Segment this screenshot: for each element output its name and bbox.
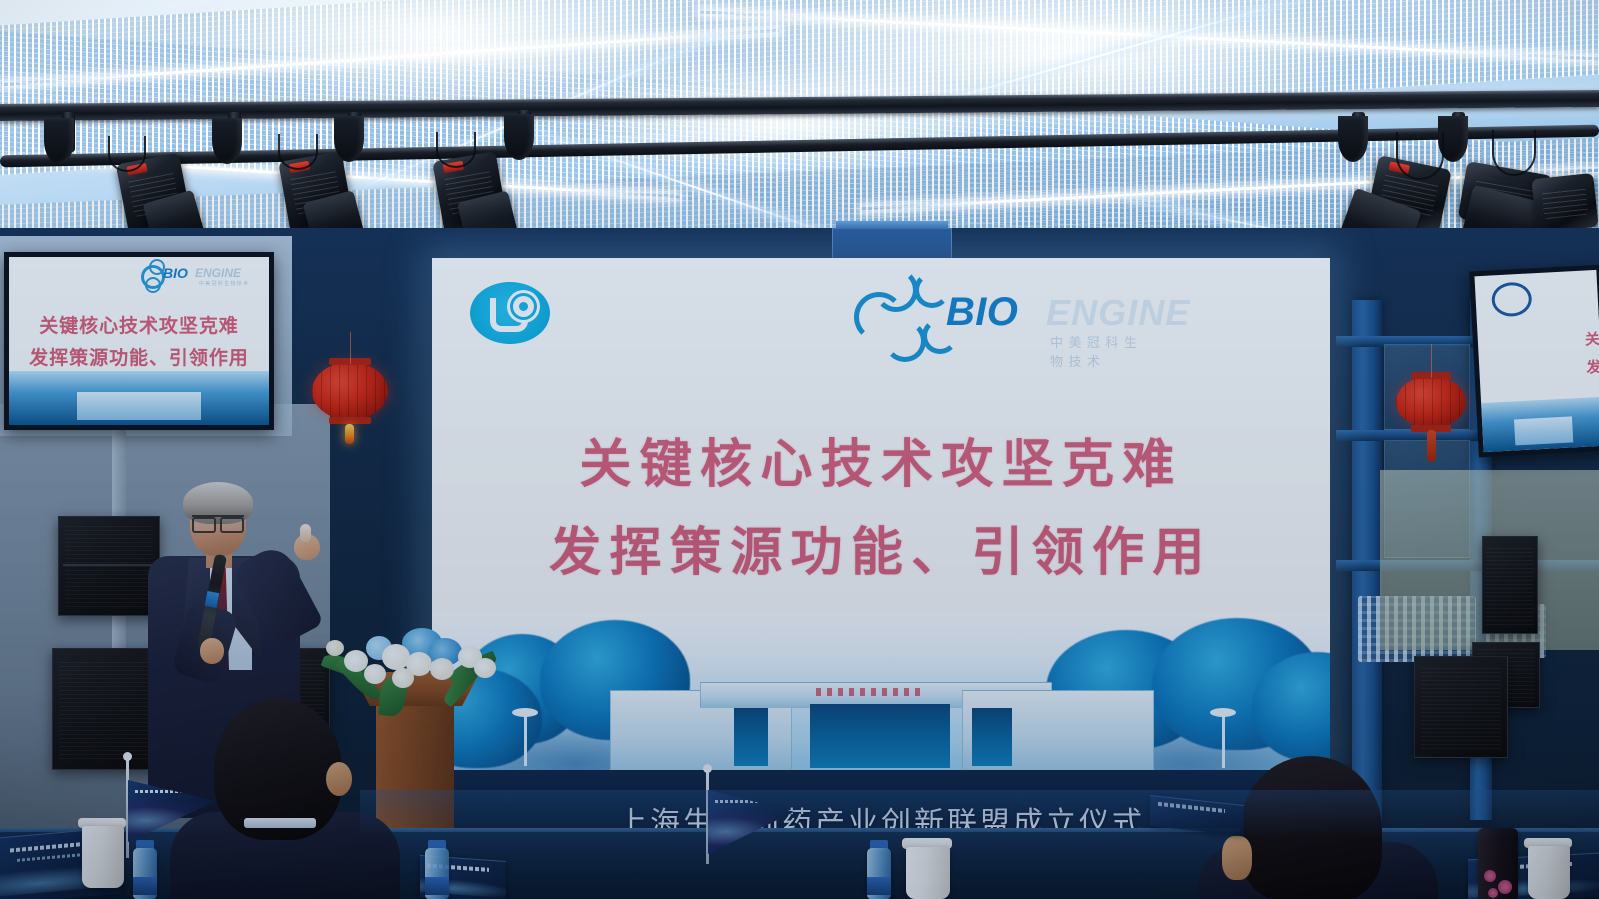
gate-signboard-text [816, 688, 926, 696]
power-cable [278, 134, 318, 170]
pa-speaker-right [1482, 536, 1538, 634]
monitor-left-title-line1: 关键核心技术攻坚克难 [9, 311, 269, 338]
stage-floor-reflection [360, 790, 1599, 838]
pennant-finial [703, 764, 712, 773]
bio-engine-logo: BIO ENGINE 中美冠科生物技术 [850, 268, 1150, 354]
power-cable [1396, 132, 1444, 180]
pennant-finial [123, 752, 132, 761]
lamp-post [1222, 712, 1225, 768]
led-presentation-screen: BIO ENGINE 中美冠科生物技术 关键核心技术攻坚克难 发挥策源功能、引领… [432, 258, 1330, 770]
gear-circle-icon [470, 282, 550, 344]
lantern-tassel [1427, 430, 1436, 462]
monitor-left-title-line2: 发挥策源功能、引领作用 [9, 343, 269, 370]
monitor-screen-right: 关 发 [1474, 270, 1599, 452]
side-monitor-left: BIO ENGINE 中美冠科生物技术 关键核心技术攻坚克难 发挥策源功能、引领… [4, 252, 274, 430]
gate-archway [810, 704, 950, 768]
glasses-icon [192, 515, 244, 530]
presenter-mic-hand [200, 638, 224, 664]
engine-wordmark: ENGINE [1046, 292, 1191, 334]
conference-stage-photo: BIO ENGINE 中美冠科生物技术 关键核心技术攻坚克难 发挥策源功能、引领… [0, 0, 1599, 899]
water-bottle-right [867, 848, 891, 899]
lamp-post [524, 712, 527, 766]
light-yoke [1338, 116, 1368, 162]
gate-side-window [972, 708, 1012, 766]
paper-cup-left [82, 826, 124, 888]
paper-cup-right [1528, 846, 1570, 899]
floral-arrangement [318, 624, 514, 710]
lamp-head [512, 708, 538, 717]
slide-title-line-2: 发挥策源功能、引领作用 [432, 510, 1330, 585]
stage-spotlight [1531, 173, 1598, 233]
power-cable [436, 132, 476, 168]
lamp-head [1210, 708, 1236, 717]
red-lantern-right [1396, 376, 1466, 428]
lantern-tassel [345, 424, 354, 444]
bio-chinese-subtitle: 中美冠科生物技术 [1050, 332, 1150, 370]
water-bottle-left [133, 848, 157, 899]
red-lantern-left [312, 362, 388, 420]
lantern-wire [1431, 344, 1432, 378]
power-cable [108, 136, 146, 172]
monitor-left-photo [9, 371, 269, 425]
pa-speaker-far-right [1414, 656, 1508, 758]
monitor-right-title-line1: 关 [1478, 328, 1599, 356]
slide-title-line-1: 关键核心技术攻坚克难 [432, 422, 1330, 497]
power-cable [1492, 130, 1536, 176]
light-yoke [212, 118, 242, 164]
light-yoke [44, 118, 74, 164]
attendee-front-left-collar [244, 818, 316, 828]
lantern-wire [350, 332, 351, 364]
bio-wordmark: BIO [946, 290, 1018, 335]
monitor-screen-left: BIO ENGINE 中美冠科生物技术 关键核心技术攻坚克难 发挥策源功能、引领… [9, 257, 269, 425]
paper-cup-center [906, 847, 950, 899]
light-yoke [334, 116, 364, 162]
monitor-right-title-line2: 发 [1479, 356, 1599, 384]
light-yoke [504, 114, 534, 160]
attendee-front-left-ear [326, 762, 352, 796]
monitor-right-photo [1481, 396, 1599, 452]
water-bottle-center [425, 848, 449, 899]
floral-thermos [1478, 828, 1518, 899]
attendee-front-right-hand [1222, 836, 1252, 880]
slide-campus-photo [432, 612, 1330, 770]
side-monitor-right: 关 发 [1469, 265, 1599, 458]
gate-side-window [734, 708, 768, 766]
